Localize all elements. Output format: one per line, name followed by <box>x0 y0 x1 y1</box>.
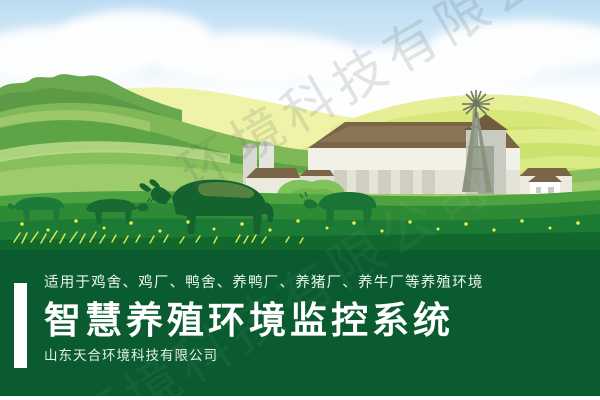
green-banner: 环境科技有限公司 适用于鸡舍、鸡厂、鸭舍、养鸭厂、养猪厂、养牛厂等养殖环境 智慧… <box>0 250 600 396</box>
promo-poster: 环境科技有限公司 环境科技有限公司 适用于鸡舍、鸡厂、鸭舍、养鸭厂、养猪厂、养牛… <box>0 0 600 400</box>
windmill-brace <box>468 146 484 148</box>
accent-bar <box>14 283 27 368</box>
windmill-brace <box>470 126 481 128</box>
grass-flowers <box>0 212 600 246</box>
bottom-white-strip <box>0 396 600 400</box>
banner-title: 智慧养殖环境监控系统 <box>44 302 584 341</box>
banner-subtitle: 适用于鸡舍、鸡厂、鸭舍、养鸭厂、养猪厂、养牛厂等养殖环境 <box>44 276 584 291</box>
banner-text-block: 适用于鸡舍、鸡厂、鸭舍、养鸭厂、养猪厂、养牛厂等养殖环境 智慧养殖环境监控系统 … <box>44 276 584 364</box>
company-name: 山东天合环境科技有限公司 <box>44 350 584 364</box>
